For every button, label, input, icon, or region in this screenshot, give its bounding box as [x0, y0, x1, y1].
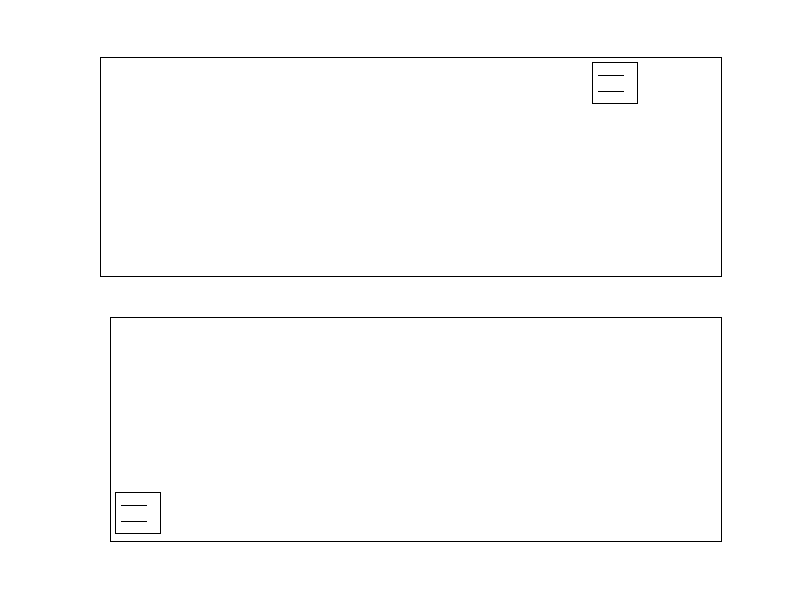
legend-color-swatch-red — [598, 75, 624, 76]
legend-item — [121, 513, 154, 529]
legend-item — [598, 67, 631, 83]
top-plot-legend — [592, 62, 638, 104]
legend-color-swatch-green — [121, 521, 147, 522]
legend-color-swatch-green — [598, 91, 624, 92]
bottom-plot-axes — [110, 317, 722, 542]
legend-item — [598, 83, 631, 99]
legend-item — [121, 497, 154, 513]
spectrum-figure — [0, 0, 800, 600]
legend-color-swatch-red — [121, 505, 147, 506]
bottom-plot-canvas — [111, 318, 721, 541]
bottom-plot-legend — [115, 492, 161, 534]
